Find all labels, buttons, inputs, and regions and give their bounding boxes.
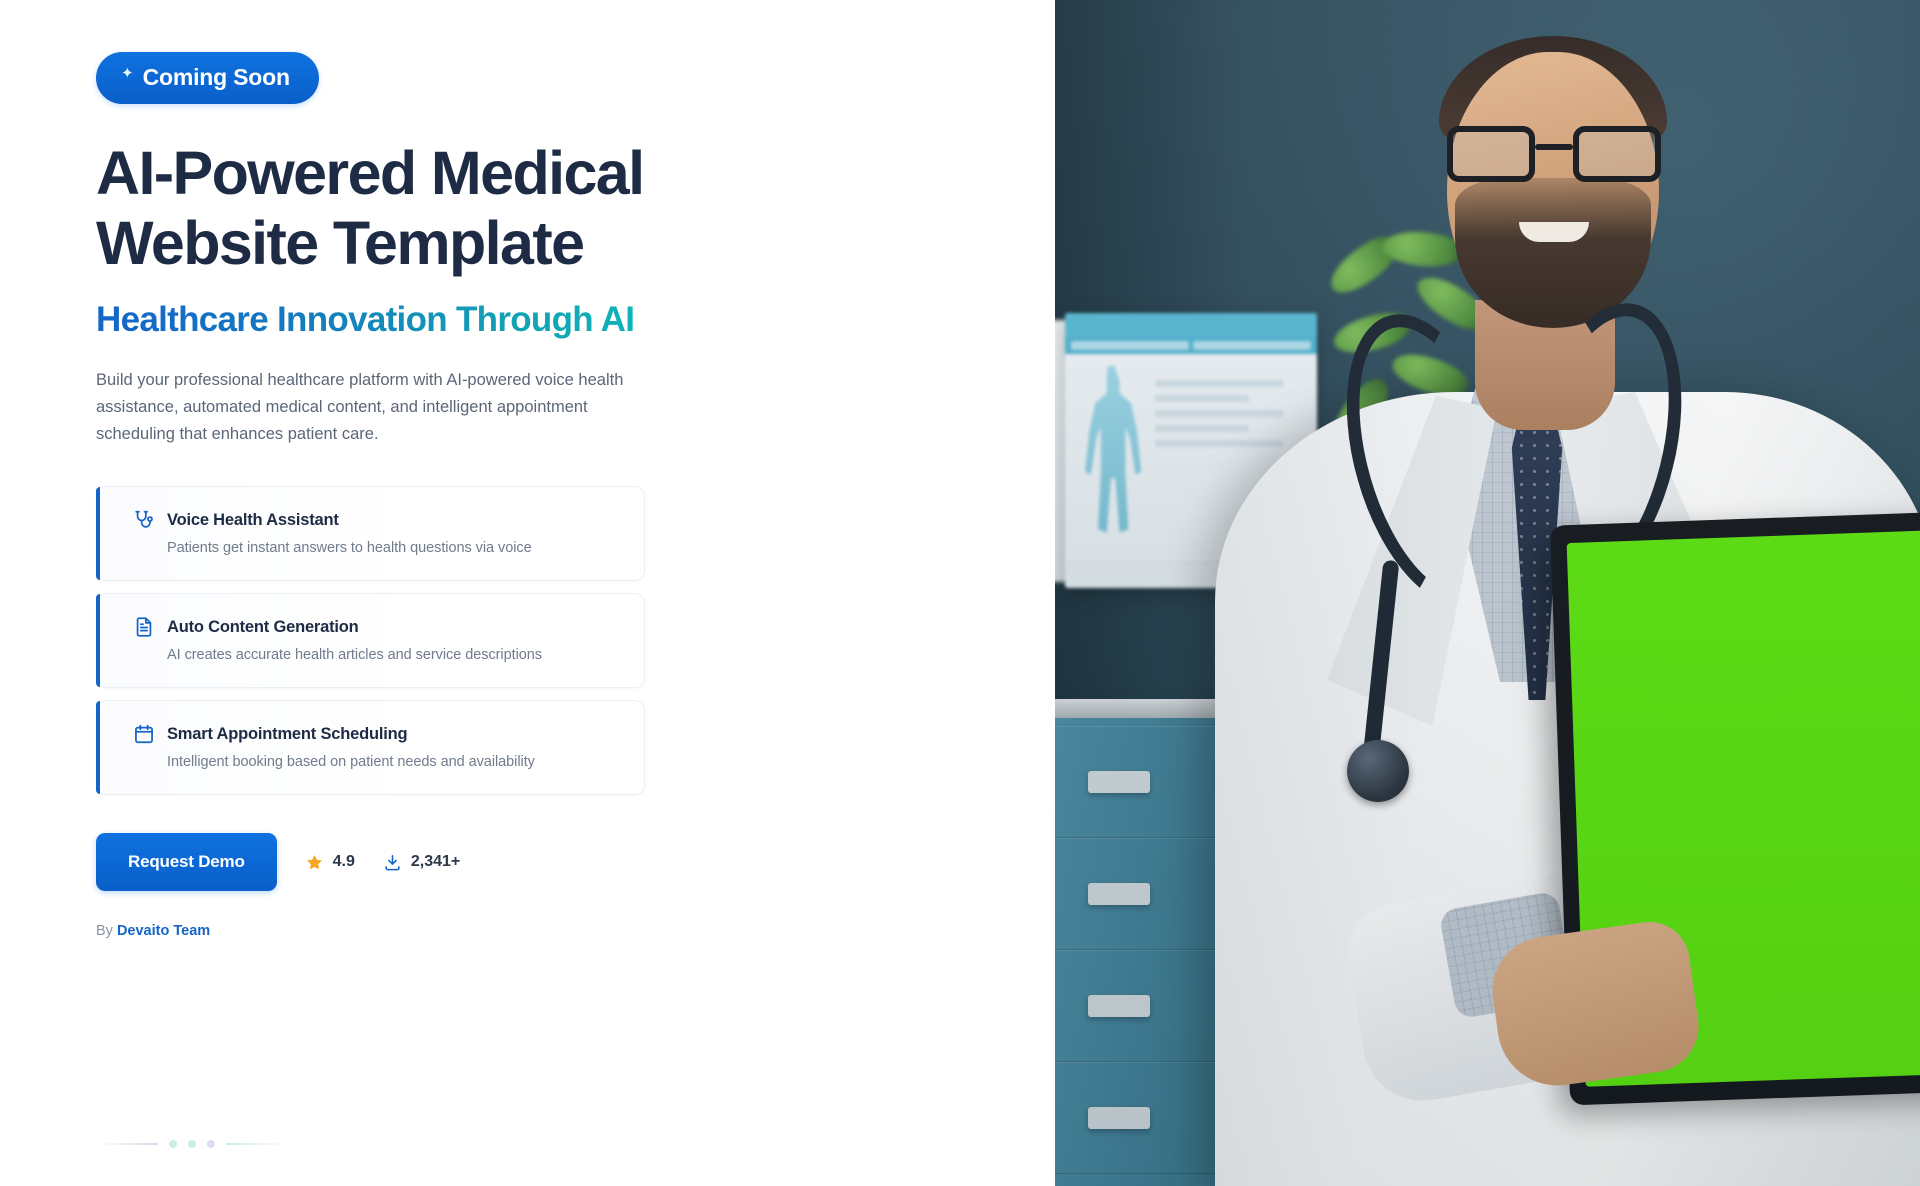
feature-description: Intelligent booking based on patient nee… — [167, 754, 624, 770]
hero-photo — [1055, 0, 1920, 1186]
feature-header: Voice Health Assistant — [133, 509, 624, 531]
carousel-dot-3[interactable] — [207, 1140, 215, 1148]
feature-description: Patients get instant answers to health q… — [167, 540, 624, 556]
byline-author-link[interactable]: Devaito Team — [117, 923, 210, 939]
eyeglasses — [1447, 126, 1661, 182]
feature-title: Voice Health Assistant — [167, 511, 339, 530]
feature-card-voice-health-assistant[interactable]: Voice Health Assistant Patients get inst… — [96, 486, 645, 581]
feature-title: Auto Content Generation — [167, 618, 359, 637]
feature-card-smart-appointment-scheduling[interactable]: Smart Appointment Scheduling Intelligent… — [96, 700, 645, 795]
feature-header: Auto Content Generation — [133, 616, 624, 638]
coming-soon-badge[interactable]: ✦ Coming Soon — [96, 52, 319, 104]
feature-list: Voice Health Assistant Patients get inst… — [96, 486, 1055, 795]
downloads-value: 2,341+ — [411, 853, 460, 871]
hand — [1486, 917, 1705, 1093]
feature-description: AI creates accurate health articles and … — [167, 647, 624, 663]
carousel-dot-2[interactable] — [188, 1140, 196, 1148]
hero-left-panel: ✦ Coming Soon AI-Powered Medical Website… — [0, 0, 1055, 1186]
lens-right — [1573, 126, 1661, 182]
divider-line-right — [226, 1143, 288, 1145]
subheadline-wrap: Healthcare Innovation Through AI — [96, 278, 1055, 340]
downloads-stat: 2,341+ — [383, 853, 460, 872]
carousel-dot-1[interactable] — [169, 1140, 177, 1148]
document-text-icon — [133, 616, 155, 638]
rating-value: 4.9 — [333, 853, 355, 871]
cta-row: Request Demo 4.9 2,341+ — [96, 833, 1055, 891]
stethoscope-chestpiece — [1347, 740, 1409, 802]
feature-title: Smart Appointment Scheduling — [167, 725, 407, 744]
calendar-icon — [133, 723, 155, 745]
stethoscope-icon — [133, 509, 155, 531]
byline-prefix: By — [96, 923, 113, 939]
feature-header: Smart Appointment Scheduling — [133, 723, 624, 745]
divider-line-left — [96, 1143, 158, 1145]
sparkle-icon: ✦ — [121, 66, 134, 81]
download-icon — [383, 853, 402, 872]
request-demo-button[interactable]: Request Demo — [96, 833, 277, 891]
smile — [1519, 222, 1589, 242]
page-title: AI-Powered Medical Website Template — [96, 139, 836, 278]
coming-soon-badge-label: Coming Soon — [143, 66, 290, 89]
byline: By Devaito Team — [96, 923, 1055, 939]
subheadline: Healthcare Innovation Through AI — [96, 300, 634, 340]
glasses-bridge — [1535, 144, 1573, 150]
rating-stat: 4.9 — [305, 853, 355, 872]
hero-description: Build your professional healthcare platf… — [96, 367, 652, 447]
star-icon — [305, 853, 324, 872]
carousel-indicator — [96, 1140, 288, 1148]
doctor-figure — [1055, 0, 1920, 1186]
feature-card-auto-content-generation[interactable]: Auto Content Generation AI creates accur… — [96, 593, 645, 688]
lens-left — [1447, 126, 1535, 182]
